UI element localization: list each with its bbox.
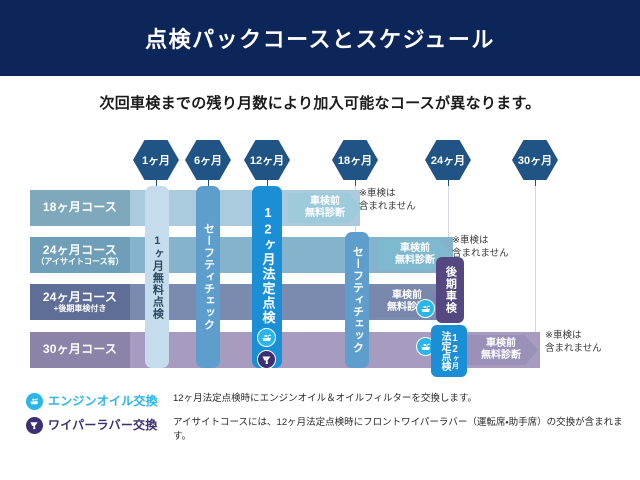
prediag-arrow-row1: 車検前 無料診断	[288, 193, 362, 223]
service-col-1m-free-label: 1ヶ月無料点検	[151, 235, 164, 320]
service-col-safety-late: セーフティチェック	[345, 232, 369, 368]
month-marker-30m-stem	[535, 178, 536, 186]
service-col-legal-12m-label: 12ヶ月法定点検	[260, 205, 275, 325]
page-subtitle: 次回車検までの残り月数により加入可能なコースが異なります。	[0, 92, 640, 113]
service-col-late-inspection: 後期車検	[436, 257, 464, 323]
legend-name-oil: エンジンオイル交換	[48, 392, 173, 409]
prediag-arrow-row2-line2: 無料診断	[395, 255, 435, 267]
month-marker-6m: 6ヶ月	[185, 140, 231, 180]
course-label-24m-late: 24ヶ月コース +後期車検付き	[30, 284, 130, 320]
course-label-18m-name: 18ヶ月コース	[43, 201, 117, 215]
service-col-safety-late-label: セーフティチェック	[351, 246, 364, 354]
course-label-24m: 24ヶ月コース （アイサイトコース有）	[30, 237, 130, 273]
month-marker-1m-label: 1ヶ月	[142, 155, 170, 167]
infographic-root: 点検パックコースとスケジュール 次回車検までの残り月数により加入可能なコースが異…	[0, 0, 640, 480]
month-marker-24m-stem	[448, 178, 449, 186]
legend-desc-oil: 12ヶ月法定点検時にエンジンオイル＆オイルフィルターを交換します。	[173, 392, 626, 406]
month-marker-12m: 12ヶ月	[244, 140, 290, 180]
course-label-24m-name: 24ヶ月コース	[43, 244, 117, 258]
service-col-legal-12m-row4-a: 法定点検	[439, 331, 450, 371]
service-col-legal-12m-row4: 法定点検 12ヶ月	[431, 325, 467, 377]
wiper-icon-legend	[26, 417, 43, 434]
month-marker-30m-label: 30ヶ月	[518, 155, 552, 167]
legend-name-wiper: ワイパーラバー交換	[48, 416, 173, 433]
prediag-arrow-row1-line1: 車検前	[305, 196, 345, 208]
schedule-chart: 1ヶ月 6ヶ月 12ヶ月 18ヶ月 24ヶ月 30ヶ月 18ヶ月コース	[0, 132, 640, 382]
month-marker-18m-stem	[355, 178, 356, 186]
month-marker-12m-stem	[267, 178, 268, 186]
service-col-late-inspection-label: 後期車検	[444, 266, 457, 314]
note-not-included-row1: ※車検は 含まれません	[359, 188, 416, 214]
course-label-18m: 18ヶ月コース	[30, 190, 130, 226]
month-marker-1m: 1ヶ月	[133, 140, 179, 180]
page-title: 点検パックコースとスケジュール	[145, 22, 495, 54]
month-marker-6m-stem	[208, 178, 209, 186]
prediag-arrow-row4-line1: 車検前	[481, 338, 521, 350]
month-marker-30m: 30ヶ月	[512, 140, 558, 180]
course-label-24m-sub: （アイサイトコース有）	[36, 257, 123, 266]
course-label-30m-name: 30ヶ月コース	[43, 343, 117, 357]
oil-can-icon	[257, 328, 276, 347]
month-marker-6m-label: 6ヶ月	[194, 155, 222, 167]
legend-row-oil: エンジンオイル交換 12ヶ月法定点検時にエンジンオイル＆オイルフィルターを交換し…	[26, 392, 626, 410]
month-marker-18m-label: 18ヶ月	[338, 155, 372, 167]
month-marker-24m: 24ヶ月	[425, 140, 471, 180]
legend-row-wiper: ワイパーラバー交換 アイサイトコースには、12ヶ月法定点検時にフロントワイパーラ…	[26, 416, 626, 445]
course-label-30m: 30ヶ月コース	[30, 332, 130, 368]
prediag-arrow-row2-line1: 車検前	[395, 243, 435, 255]
course-label-24m-late-sub: +後期車検付き	[54, 304, 107, 313]
prediag-arrow-row1-line2: 無料診断	[305, 208, 345, 220]
legend: エンジンオイル交換 12ヶ月法定点検時にエンジンオイル＆オイルフィルターを交換し…	[26, 392, 626, 451]
legend-desc-wiper: アイサイトコースには、12ヶ月法定点検時にフロントワイパーラバー（運転席・助手席…	[173, 416, 626, 445]
oil-can-icon-legend	[26, 393, 43, 410]
service-col-legal-12m-row4-b: 12ヶ月	[449, 333, 460, 369]
oil-can-icon-row3	[416, 299, 435, 318]
course-label-24m-late-name: 24ヶ月コース	[43, 291, 117, 305]
prediag-arrow-row4: 車検前 無料診断	[464, 335, 538, 365]
month-marker-24m-label: 24ヶ月	[431, 155, 465, 167]
month-marker-12m-label: 12ヶ月	[250, 155, 284, 167]
month-marker-18m: 18ヶ月	[332, 140, 378, 180]
wiper-icon	[257, 350, 276, 369]
page-header: 点検パックコースとスケジュール	[0, 0, 640, 76]
service-col-safety-early-label: セーフティチェック	[202, 223, 215, 331]
month-marker-1m-stem	[156, 178, 157, 186]
service-col-safety-early: セーフティチェック	[196, 186, 220, 368]
service-col-1m-free: 1ヶ月無料点検	[145, 186, 169, 368]
note-not-included-row4: ※車検は 含まれません	[545, 330, 602, 356]
prediag-arrow-row4-line2: 無料診断	[481, 350, 521, 362]
